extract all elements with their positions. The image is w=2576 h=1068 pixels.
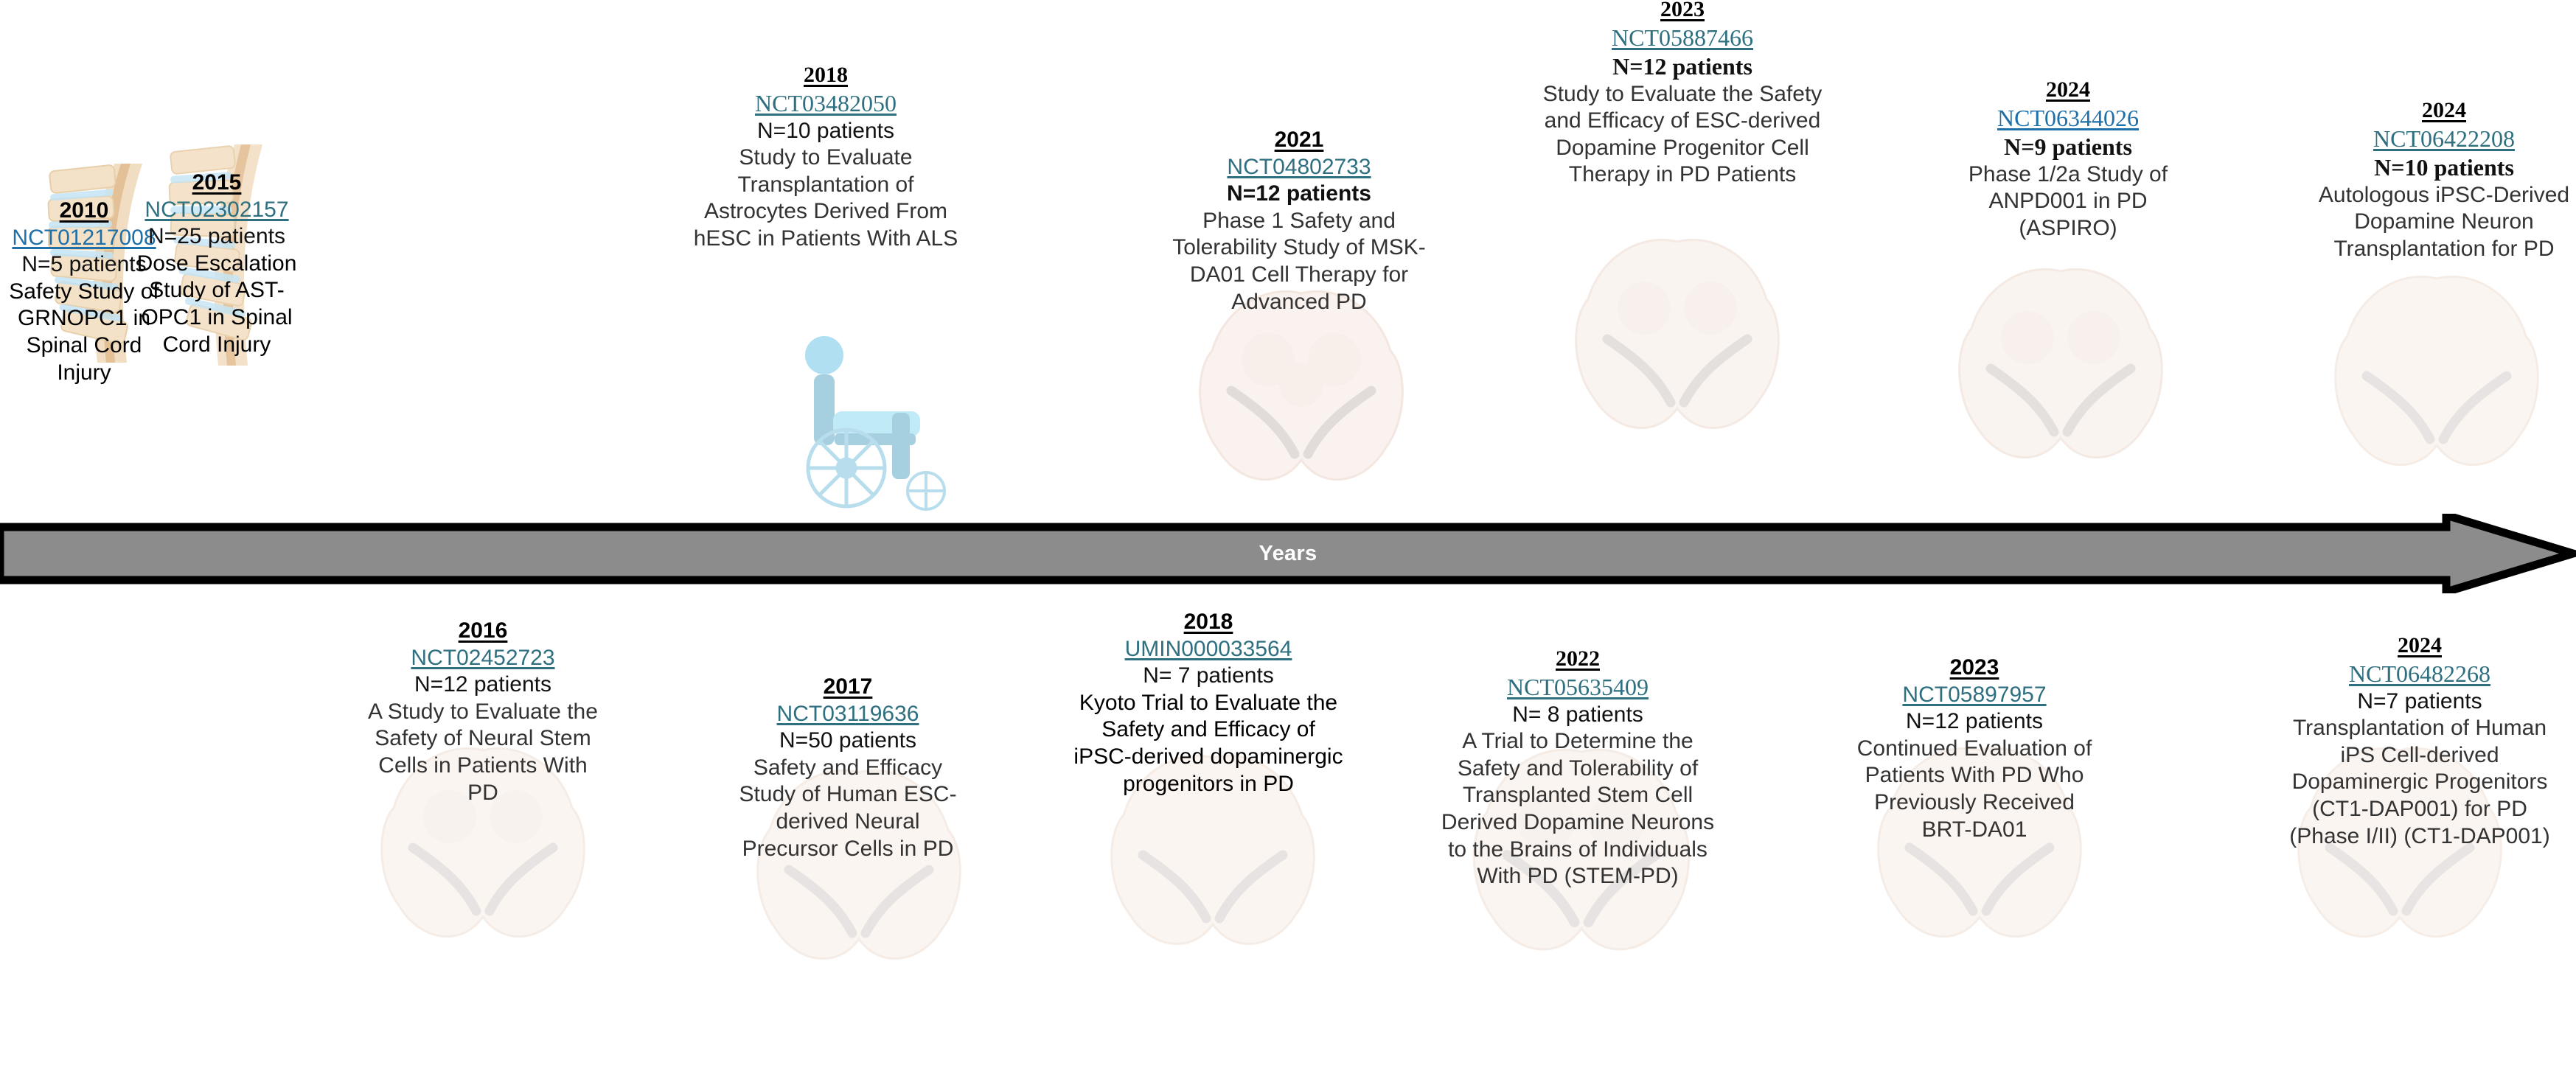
registry-id-link[interactable]: NCT06344026 (1957, 104, 2179, 133)
entry-description: Study to Evaluate Transplantation of Ast… (686, 144, 966, 252)
entry-patient-count: N=10 patients (686, 118, 966, 145)
entry-patient-count: N=25 patients (136, 223, 297, 251)
brain-illustration (1556, 228, 1799, 450)
entry-patient-count: N=50 patients (737, 727, 958, 755)
entry-year: 2023 (1851, 655, 2098, 682)
registry-id-link[interactable]: UMIN000033564 (1073, 636, 1343, 663)
entry-description: Continued Evaluation of Patients With PD… (1851, 736, 2098, 843)
timeline-entry-2021[interactable]: 2021 NCT04802733 N=12 patients Phase 1 S… (1158, 127, 1441, 315)
registry-id-link[interactable]: NCT03119636 (737, 701, 958, 728)
entry-description: A Study to Evaluate the Safety of Neural… (366, 699, 600, 806)
entry-patient-count: N=12 patients (366, 671, 600, 699)
timeline-entry-2015[interactable]: 2015 NCT02302157 N=25 patients Dose Esca… (136, 170, 297, 358)
registry-id-link[interactable]: NCT05887466 (1541, 24, 1824, 52)
entry-year: 2017 (737, 674, 958, 701)
registry-id-link[interactable]: NCT04802733 (1158, 154, 1441, 181)
brain-illustration (2315, 265, 2558, 486)
entry-year: 2024 (2311, 97, 2576, 125)
timeline-entry-2023-esc[interactable]: 2023 NCT05887466 N=12 patients Study to … (1541, 0, 1824, 189)
entry-year: 2018 (1073, 609, 1343, 636)
timeline-entry-2016[interactable]: 2016 NCT02452723 N=12 patients A Study t… (366, 618, 600, 806)
brain-illustration (1939, 258, 2182, 479)
entry-year: 2018 (686, 62, 966, 89)
entry-patient-count: N=12 patients (1851, 708, 2098, 736)
entry-patient-count: N=9 patients (1957, 133, 2179, 161)
entry-patient-count: N=12 patients (1158, 181, 1441, 208)
entry-year: 2022 (1430, 646, 1725, 673)
entry-description: Kyoto Trial to Evaluate the Safety and E… (1073, 690, 1343, 797)
registry-id-link[interactable]: NCT02452723 (366, 645, 600, 672)
entry-year: 2016 (366, 618, 600, 645)
entry-patient-count: N=7 patients (2282, 688, 2558, 716)
timeline-axis-arrow (0, 514, 2576, 593)
entry-year: 2015 (136, 170, 297, 197)
entry-description: Phase 1 Safety and Tolerability Study of… (1158, 208, 1441, 315)
entry-description: Safety and Efficacy Study of Human ESC-d… (737, 755, 958, 862)
registry-id-link[interactable]: NCT02302157 (136, 197, 297, 224)
registry-id-link[interactable]: NCT06422208 (2311, 125, 2576, 153)
entry-year: 2024 (2282, 632, 2558, 660)
timeline-entry-2017[interactable]: 2017 NCT03119636 N=50 patients Safety an… (737, 674, 958, 862)
entry-patient-count: N=10 patients (2311, 153, 2576, 182)
timeline-entry-2023-brtda01[interactable]: 2023 NCT05897957 N=12 patients Continued… (1851, 655, 2098, 843)
timeline-entry-2022-stempd[interactable]: 2022 NCT05635409 N= 8 patients A Trial t… (1430, 646, 1725, 890)
registry-id-link[interactable]: NCT05635409 (1430, 673, 1725, 702)
timeline-entry-2024-autologous[interactable]: 2024 NCT06422208 N=10 patients Autologou… (2311, 97, 2576, 262)
registry-id-link[interactable]: NCT03482050 (686, 89, 966, 118)
timeline-entry-2024-aspiro[interactable]: 2024 NCT06344026 N=9 patients Phase 1/2a… (1957, 77, 2179, 242)
registry-id-link[interactable]: NCT06482268 (2282, 660, 2558, 688)
entry-description: Transplantation of Human iPS Cell-derive… (2282, 715, 2558, 850)
entry-patient-count: N=12 patients (1541, 52, 1824, 81)
timeline-entry-2018-als[interactable]: 2018 NCT03482050 N=10 patients Study to … (686, 62, 966, 253)
entry-description: Phase 1/2a Study of ANPD001 in PD (ASPIR… (1957, 161, 2179, 242)
entry-patient-count: N= 7 patients (1073, 663, 1343, 690)
timeline-canvas: Years 2010 NCT01217008 N=5 patients Safe… (0, 0, 2576, 1068)
entry-year: 2021 (1158, 127, 1441, 154)
entry-year: 2023 (1541, 0, 1824, 24)
entry-patient-count: N= 8 patients (1430, 702, 1725, 729)
entry-description: A Trial to Determine the Safety and Tole… (1430, 728, 1725, 890)
entry-description: Dose Escalation Study of AST-OPC1 in Spi… (136, 251, 297, 358)
registry-id-link[interactable]: NCT05897957 (1851, 682, 2098, 709)
entry-description: Study to Evaluate the Safety and Efficac… (1541, 81, 1824, 189)
timeline-entry-2018-kyoto[interactable]: 2018 UMIN000033564 N= 7 patients Kyoto T… (1073, 609, 1343, 797)
entry-year: 2024 (1957, 77, 2179, 104)
wheelchair-illustration (781, 317, 966, 516)
timeline-entry-2024-ct1dap001[interactable]: 2024 NCT06482268 N=7 patients Transplant… (2282, 632, 2558, 850)
entry-description: Autologous iPSC-Derived Dopamine Neuron … (2311, 182, 2576, 263)
